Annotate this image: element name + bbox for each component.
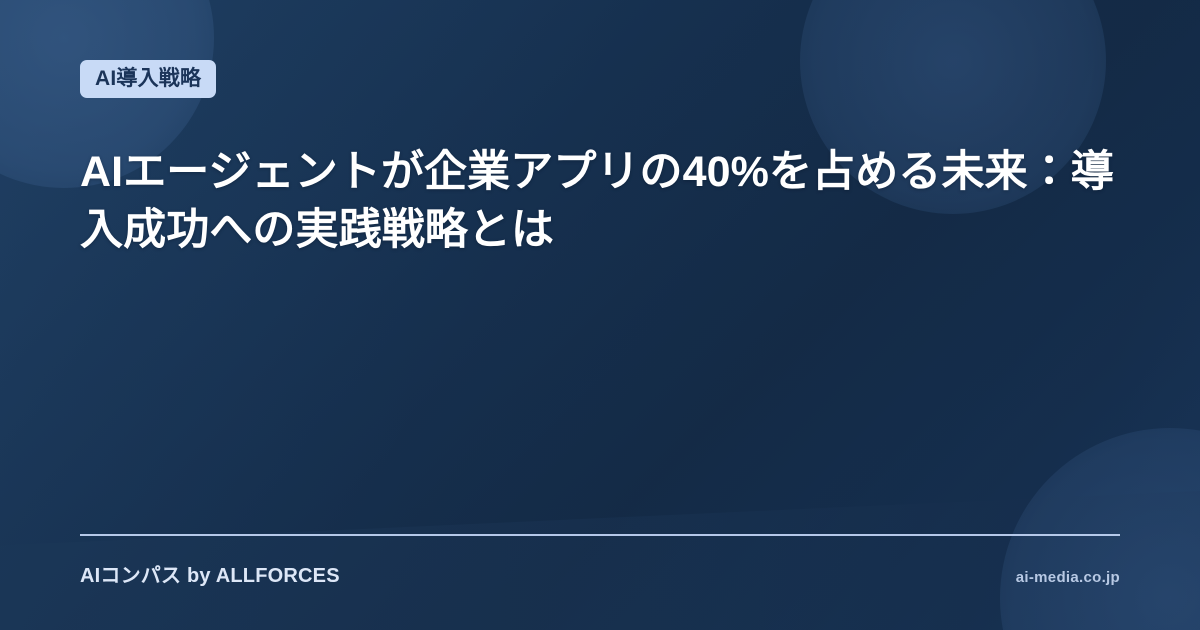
site-domain: ai-media.co.jp (1016, 569, 1120, 586)
og-image-card: AI導入戦略 AIエージェントが企業アプリの40%を占める未来：導入成功への実践… (0, 0, 1200, 630)
footer-divider (80, 534, 1120, 536)
category-badge: AI導入戦略 (80, 60, 216, 98)
site-name: AIコンパス by ALLFORCES (80, 559, 340, 588)
footer-row: AIコンパス by ALLFORCES ai-media.co.jp (80, 559, 1120, 588)
page-title: AIエージェントが企業アプリの40%を占める未来：導入成功への実践戦略とは (80, 144, 1122, 259)
card-footer: AIコンパス by ALLFORCES ai-media.co.jp (80, 534, 1120, 588)
